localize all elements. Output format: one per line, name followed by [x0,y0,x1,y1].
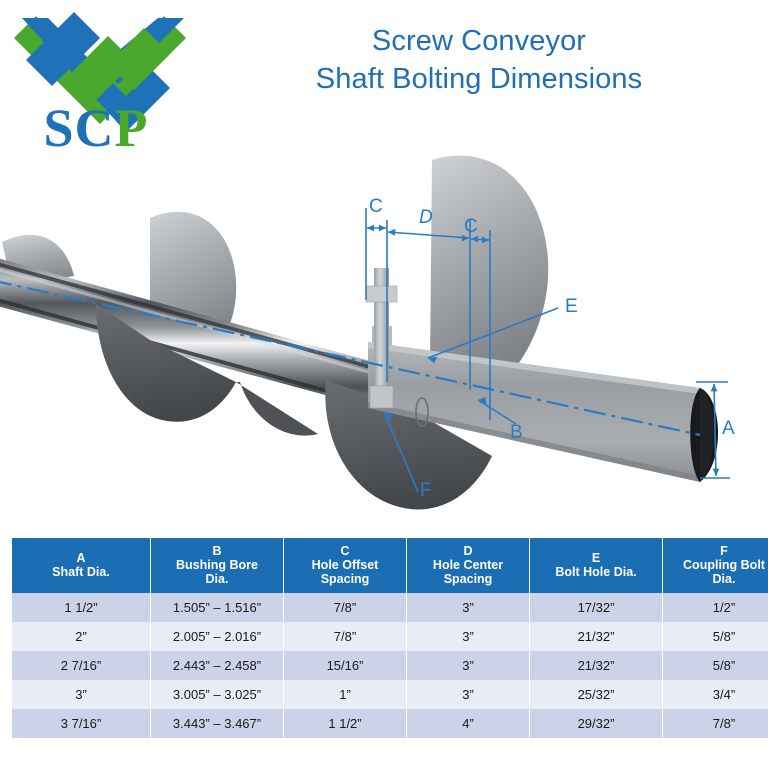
coupling-bolt [366,268,397,408]
cell-f: 5/8” [663,622,768,651]
column-name-f-2: Dia. [665,572,768,586]
callout-label-a: A [722,418,735,440]
cell-c: 7/8” [284,593,407,622]
cell-d: 3” [407,593,530,622]
table-body: 1 1/2” 1.505” – 1.516” 7/8” 3” 17/32” 1/… [12,593,768,738]
page-root: SCP Screw Conveyor Shaft Bolting Dimensi… [0,0,768,768]
column-letter-f: F [665,544,768,558]
cell-a: 2 7/16” [12,651,151,680]
table-row: 2 7/16” 2.443” – 2.458” 15/16” 3” 21/32”… [12,651,768,680]
cell-d: 3” [407,622,530,651]
cell-f: 5/8” [663,651,768,680]
table-row: 3 7/16” 3.443” – 3.467” 1 1/2” 4” 29/32”… [12,709,768,738]
cell-e: 21/32” [530,622,663,651]
callout-label-e: E [565,296,578,318]
cell-a: 2” [12,622,151,651]
cell-f: 1/2” [663,593,768,622]
cell-e: 25/32” [530,680,663,709]
shaft-bolting-dimensions-table: A Shaft Dia. B Bushing Bore Dia. C Hole … [12,538,768,738]
cell-c: 1 1/2” [284,709,407,738]
cell-c: 15/16” [284,651,407,680]
dimensions-table-wrapper: A Shaft Dia. B Bushing Bore Dia. C Hole … [12,538,756,738]
page-title: Screw Conveyor Shaft Bolting Dimensions [190,22,768,98]
column-header-e: E Bolt Hole Dia. [530,538,663,593]
dim-line-a [714,384,716,476]
column-name-c-2: Spacing [286,572,404,586]
cell-b: 2.443” – 2.458” [151,651,284,680]
column-header-b: B Bushing Bore Dia. [151,538,284,593]
column-letter-c: C [286,544,404,558]
callout-label-d: D [419,207,433,229]
cell-f: 3/4” [663,680,768,709]
column-header-c: C Hole Offset Spacing [284,538,407,593]
table-row: 3” 3.005” – 3.025” 1” 3” 25/32” 3/4” [12,680,768,709]
cell-c: 1” [284,680,407,709]
column-letter-b: B [153,544,281,558]
column-header-a: A Shaft Dia. [12,538,151,593]
column-letter-a: A [14,551,148,565]
cell-a: 3 7/16” [12,709,151,738]
cell-a: 1 1/2” [12,593,151,622]
column-header-f: F Coupling Bolt Dia. [663,538,768,593]
cell-b: 3.005” – 3.025” [151,680,284,709]
column-name-a-1: Shaft Dia. [14,565,148,579]
cell-f: 7/8” [663,709,768,738]
column-name-c-1: Hole Offset [286,558,404,572]
column-name-b-2: Dia. [153,572,281,586]
column-letter-e: E [532,551,660,565]
column-name-d-2: Spacing [409,572,527,586]
title-line-1: Screw Conveyor [190,22,768,60]
cell-e: 21/32” [530,651,663,680]
cell-c: 7/8” [284,622,407,651]
table-row: 2” 2.005” – 2.016” 7/8” 3” 21/32” 5/8” [12,622,768,651]
callout-label-c1: C [369,196,383,218]
column-header-d: D Hole Center Spacing [407,538,530,593]
cell-e: 17/32” [530,593,663,622]
cell-d: 4” [407,709,530,738]
cell-a: 3” [12,680,151,709]
screw-conveyor-diagram [0,90,768,530]
column-name-e-1: Bolt Hole Dia. [532,565,660,579]
table-header: A Shaft Dia. B Bushing Bore Dia. C Hole … [12,538,768,593]
cell-d: 3” [407,651,530,680]
callout-label-b: B [510,422,523,444]
cell-b: 1.505” – 1.516” [151,593,284,622]
cell-b: 2.005” – 2.016” [151,622,284,651]
column-name-b-1: Bushing Bore [153,558,281,572]
table-row: 1 1/2” 1.505” – 1.516” 7/8” 3” 17/32” 1/… [12,593,768,622]
cell-d: 3” [407,680,530,709]
callout-label-f: F [420,480,432,502]
column-name-d-1: Hole Center [409,558,527,572]
column-letter-d: D [409,544,527,558]
callout-label-c2: C [464,216,478,238]
table-header-row: A Shaft Dia. B Bushing Bore Dia. C Hole … [12,538,768,593]
cell-b: 3.443” – 3.467” [151,709,284,738]
cell-e: 29/32” [530,709,663,738]
column-name-f-1: Coupling Bolt [665,558,768,572]
